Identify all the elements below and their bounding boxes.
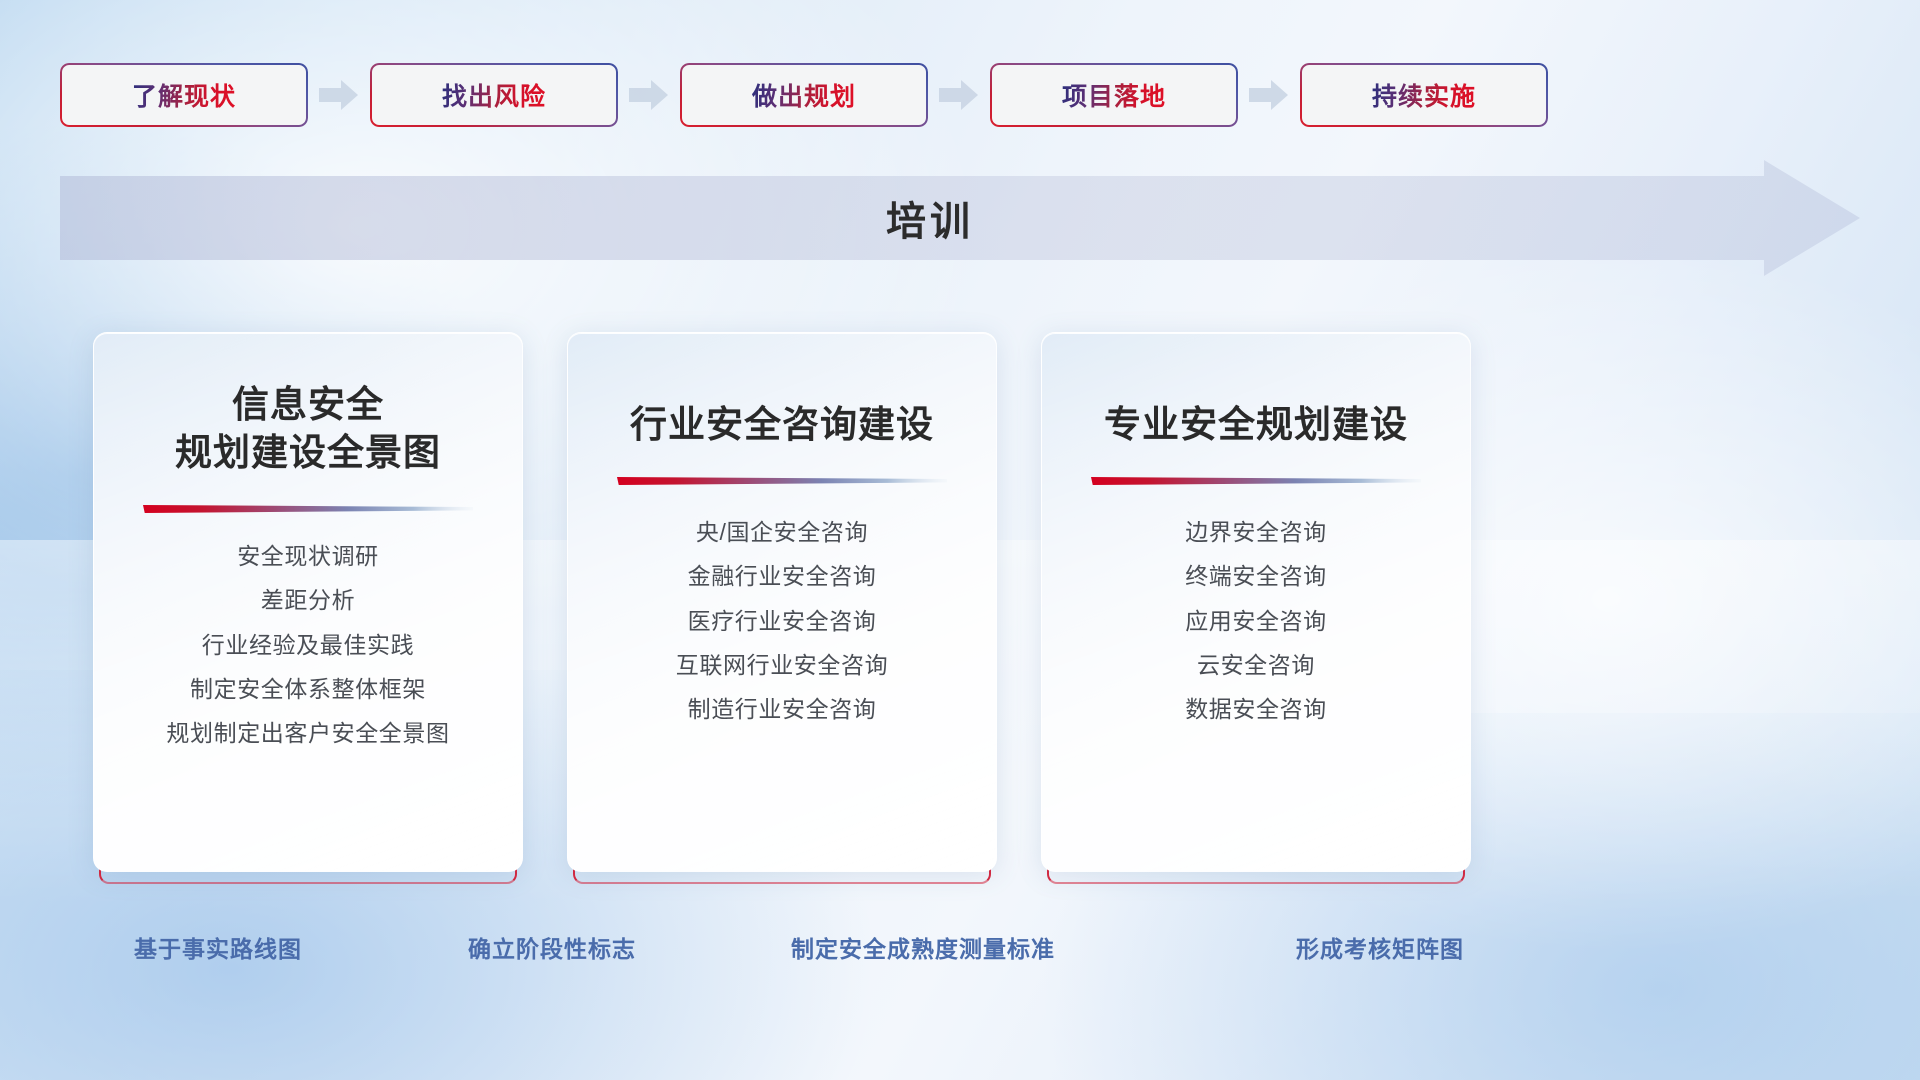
card-list-item[interactable]: 制造行业安全咨询 xyxy=(688,697,877,722)
step-label: 做出规划 xyxy=(752,77,856,113)
card-list-item[interactable]: 行业经验及最佳实践 xyxy=(202,633,414,658)
service-card-1[interactable]: 行业安全咨询建设央/国企安全咨询金融行业安全咨询医疗行业安全咨询互联网行业安全咨… xyxy=(567,332,997,872)
step-box-4[interactable]: 持续实施 xyxy=(1300,63,1548,127)
card-list-item[interactable]: 规划制定出客户安全全景图 xyxy=(166,721,449,746)
step-label: 了解现状 xyxy=(132,77,236,113)
service-card-0[interactable]: 信息安全规划建设全景图安全现状调研差距分析行业经验及最佳实践制定安全体系整体框架… xyxy=(93,332,523,872)
step-box-2[interactable]: 做出规划 xyxy=(680,63,928,127)
card-item-list: 安全现状调研差距分析行业经验及最佳实践制定安全体系整体框架规划制定出客户安全全景… xyxy=(166,544,449,746)
card-list-item[interactable]: 互联网行业安全咨询 xyxy=(676,653,888,678)
card-item-list: 央/国企安全咨询金融行业安全咨询医疗行业安全咨询互联网行业安全咨询制造行业安全咨… xyxy=(676,520,888,722)
card-divider xyxy=(1091,475,1421,486)
card-divider xyxy=(143,503,473,514)
card-list-item[interactable]: 终端安全咨询 xyxy=(1185,564,1327,589)
step-label: 项目落地 xyxy=(1062,77,1166,113)
card-title-line-1: 专业安全规划建设 xyxy=(1104,401,1408,449)
card-title: 行业安全咨询建设 xyxy=(630,381,934,449)
card-divider xyxy=(617,475,947,486)
card-body: 信息安全规划建设全景图安全现状调研差距分析行业经验及最佳实践制定安全体系整体框架… xyxy=(93,332,523,872)
card-list-item[interactable]: 安全现状调研 xyxy=(237,544,379,569)
training-banner-title: 培训 xyxy=(60,160,1860,276)
card-title: 专业安全规划建设 xyxy=(1104,381,1408,449)
card-list-item[interactable]: 数据安全咨询 xyxy=(1185,697,1327,722)
card-list-item[interactable]: 制定安全体系整体框架 xyxy=(190,677,426,702)
arrow-right-icon xyxy=(1238,63,1300,127)
card-list-item[interactable]: 医疗行业安全咨询 xyxy=(688,609,877,634)
card-title-line-1: 信息安全 xyxy=(175,381,441,429)
arrow-right-icon xyxy=(308,63,370,127)
footnote-label-3: 形成考核矩阵图 xyxy=(1296,930,1464,964)
card-list-item[interactable]: 应用安全咨询 xyxy=(1185,609,1327,634)
footnote-label-2: 制定安全成熟度测量标准 xyxy=(791,930,1055,964)
card-list-item[interactable]: 边界安全咨询 xyxy=(1185,520,1327,545)
card-title-line-2: 规划建设全景图 xyxy=(175,429,441,477)
step-box-0[interactable]: 了解现状 xyxy=(60,63,308,127)
footnote-label-1: 确立阶段性标志 xyxy=(468,930,636,964)
card-title: 信息安全规划建设全景图 xyxy=(175,381,441,477)
step-label: 找出风险 xyxy=(442,77,546,113)
card-item-list: 边界安全咨询终端安全咨询应用安全咨询云安全咨询数据安全咨询 xyxy=(1185,520,1327,722)
arrow-right-icon xyxy=(928,63,990,127)
footnote-row: 基于事实路线图确立阶段性标志制定安全成熟度测量标准形成考核矩阵图 xyxy=(0,930,1920,980)
card-list-item[interactable]: 差距分析 xyxy=(261,588,355,613)
service-card-row: 信息安全规划建设全景图安全现状调研差距分析行业经验及最佳实践制定安全体系整体框架… xyxy=(0,332,1920,877)
card-list-item[interactable]: 央/国企安全咨询 xyxy=(696,520,868,545)
service-card-2[interactable]: 专业安全规划建设边界安全咨询终端安全咨询应用安全咨询云安全咨询数据安全咨询 xyxy=(1041,332,1471,872)
card-body: 行业安全咨询建设央/国企安全咨询金融行业安全咨询医疗行业安全咨询互联网行业安全咨… xyxy=(567,332,997,872)
step-box-1[interactable]: 找出风险 xyxy=(370,63,618,127)
process-step-flow: 了解现状找出风险做出规划项目落地持续实施 xyxy=(60,62,1860,128)
step-label: 持续实施 xyxy=(1372,77,1476,113)
card-body: 专业安全规划建设边界安全咨询终端安全咨询应用安全咨询云安全咨询数据安全咨询 xyxy=(1041,332,1471,872)
footnote-label-0: 基于事实路线图 xyxy=(134,930,302,964)
card-list-item[interactable]: 金融行业安全咨询 xyxy=(688,564,877,589)
card-title-line-1: 行业安全咨询建设 xyxy=(630,401,934,449)
card-list-item[interactable]: 云安全咨询 xyxy=(1197,653,1315,678)
step-box-3[interactable]: 项目落地 xyxy=(990,63,1238,127)
arrow-right-icon xyxy=(618,63,680,127)
training-banner: 培训 xyxy=(60,160,1860,276)
